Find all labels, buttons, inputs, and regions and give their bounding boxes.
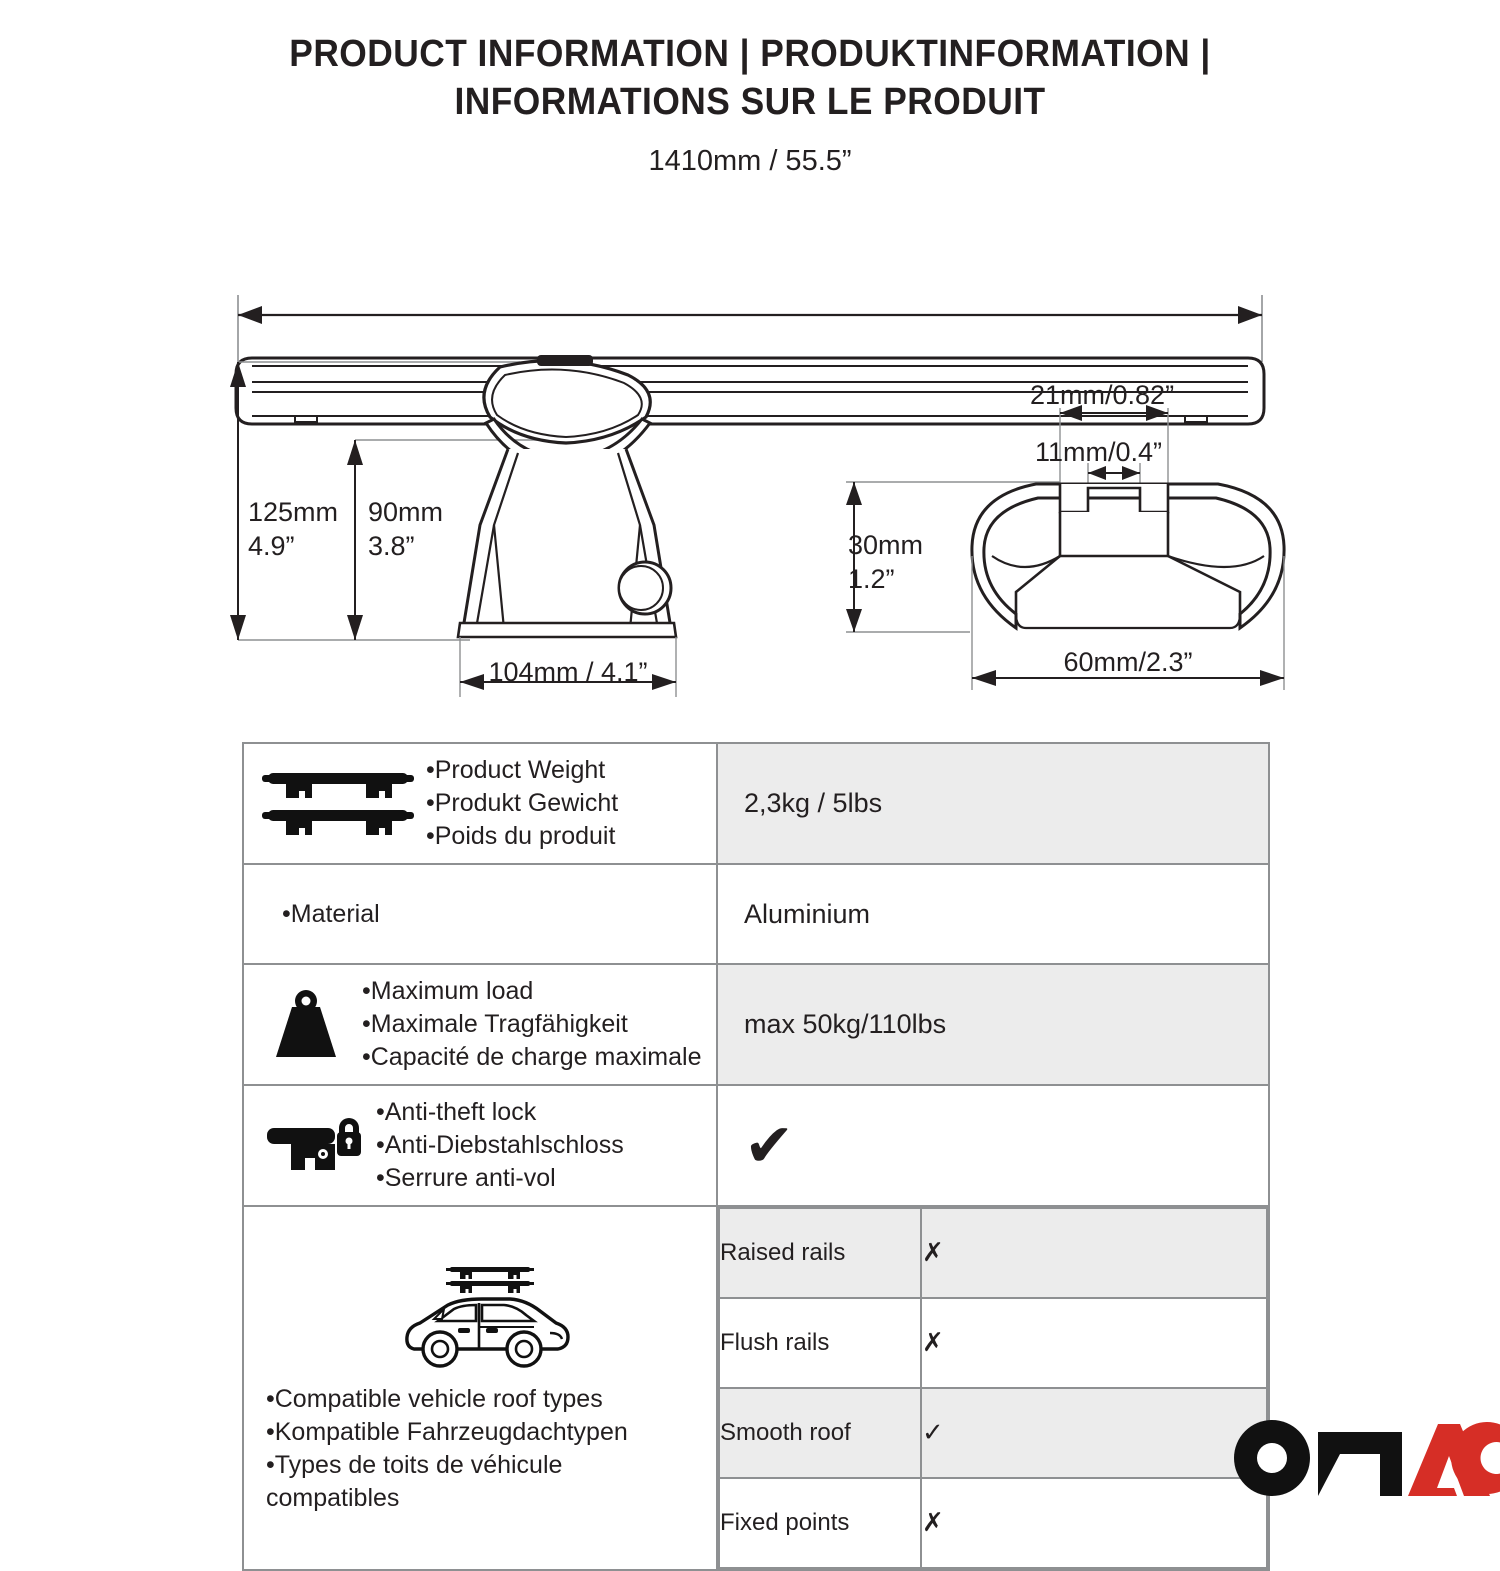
cross-icon: ✗: [922, 1508, 944, 1538]
roof-types-label-cell: •Compatible vehicle roof types •Kompatib…: [243, 1206, 717, 1570]
car-with-rack-icon: [398, 1261, 574, 1377]
check-icon: ✔: [744, 1111, 794, 1181]
roof-type-mark: ✗: [921, 1208, 1267, 1298]
bullet-line: •Anti-Diebstahlschloss: [376, 1129, 624, 1162]
roof-type-mark: ✗: [921, 1478, 1267, 1568]
roof-type-row: Raised rails ✗: [719, 1208, 1267, 1298]
spec-value-max-load: max 50kg/110lbs: [717, 964, 1269, 1085]
spec-value-weight: 2,3kg / 5lbs: [717, 743, 1269, 864]
table-row: •Material Aluminium: [243, 864, 1269, 964]
profile-width-label: 60mm/2.3”: [972, 645, 1284, 679]
title-line-2: INFORMATIONS SUR LE PRODUIT: [53, 78, 1448, 126]
bullet-line: •Maximum load: [362, 975, 701, 1008]
spec-bullets: •Compatible vehicle roof types •Kompatib…: [266, 1383, 686, 1515]
bullet-line: •Maximale Tragfähigkeit: [362, 1008, 701, 1041]
spec-label-cell: •Material: [243, 864, 717, 964]
roof-type-label: Flush rails: [719, 1298, 921, 1388]
table-row: •Anti-theft lock •Anti-Diebstahlschloss …: [243, 1085, 1269, 1206]
bullet-line: •Product Weight: [426, 754, 618, 787]
roof-type-label: Raised rails: [719, 1208, 921, 1298]
page-title: PRODUCT INFORMATION | PRODUKTINFORMATION…: [0, 30, 1500, 126]
profile-slot-outer-label: 21mm/0.82”: [1030, 378, 1174, 412]
crossbars-icon: [258, 765, 418, 843]
bar-length-label: 1410mm / 55.5”: [0, 142, 1500, 180]
roof-type-row: Flush rails ✗: [719, 1298, 1267, 1388]
roof-type-row: Fixed points ✗: [719, 1478, 1267, 1568]
bullet-line: •Compatible vehicle roof types: [266, 1383, 686, 1416]
check-icon: ✓: [922, 1418, 944, 1448]
table-row: •Product Weight •Produkt Gewicht •Poids …: [243, 743, 1269, 864]
spec-bullets: •Material: [258, 898, 380, 931]
spec-label-cell: •Maximum load •Maximale Tragfähigkeit •C…: [243, 964, 717, 1085]
bullet-line: •Poids du produit: [426, 820, 618, 853]
product-spec-table: •Product Weight •Produkt Gewicht •Poids …: [242, 742, 1270, 1571]
bullet-line: •Anti-theft lock: [376, 1096, 624, 1129]
cross-icon: ✗: [922, 1238, 944, 1268]
foot-width-label: 104mm / 4.1”: [460, 655, 676, 689]
weight-icon: [258, 989, 354, 1061]
lock-icon: [258, 1110, 368, 1182]
bullet-line: •Material: [282, 898, 380, 931]
title-line-1: PRODUCT INFORMATION | PRODUKTINFORMATION…: [53, 30, 1448, 78]
cross-icon: ✗: [922, 1328, 944, 1358]
omac-logo: [1232, 1418, 1500, 1503]
bullet-line: •Types de toits de véhicule compatibles: [266, 1449, 686, 1515]
roof-types-subtable-cell: Raised rails ✗ Flush rails ✗ Smooth roof…: [717, 1206, 1269, 1570]
spec-value-material: Aluminium: [717, 864, 1269, 964]
table-row: •Maximum load •Maximale Tragfähigkeit •C…: [243, 964, 1269, 1085]
roof-types-table: Raised rails ✗ Flush rails ✗ Smooth roof…: [718, 1207, 1268, 1569]
spec-label-cell: •Anti-theft lock •Anti-Diebstahlschloss …: [243, 1085, 717, 1206]
profile-height-label: 30mm 1.2”: [848, 528, 923, 596]
bullet-line: •Capacité de charge maximale: [362, 1041, 701, 1074]
table-row: •Compatible vehicle roof types •Kompatib…: [243, 1206, 1269, 1570]
spec-bullets: •Product Weight •Produkt Gewicht •Poids …: [426, 754, 618, 853]
spec-bullets: •Maximum load •Maximale Tragfähigkeit •C…: [362, 975, 701, 1074]
roof-type-row: Smooth roof ✓: [719, 1388, 1267, 1478]
profile-slot-inner-label: 11mm/0.4”: [1035, 435, 1162, 469]
bullet-line: •Serrure anti-vol: [376, 1162, 624, 1195]
roof-type-label: Smooth roof: [719, 1388, 921, 1478]
spec-value-anti-theft: ✔: [717, 1085, 1269, 1206]
bullet-line: •Produkt Gewicht: [426, 787, 618, 820]
bullet-line: •Kompatible Fahrzeugdachtypen: [266, 1416, 686, 1449]
spec-label-cell: •Product Weight •Produkt Gewicht •Poids …: [243, 743, 717, 864]
spec-bullets: •Anti-theft lock •Anti-Diebstahlschloss …: [376, 1096, 624, 1195]
foot-total-height-label: 125mm 4.9”: [248, 495, 338, 563]
roof-type-mark: ✓: [921, 1388, 1267, 1478]
roof-type-mark: ✗: [921, 1298, 1267, 1388]
foot-inner-height-label: 90mm 3.8”: [368, 495, 443, 563]
roof-type-label: Fixed points: [719, 1478, 921, 1568]
